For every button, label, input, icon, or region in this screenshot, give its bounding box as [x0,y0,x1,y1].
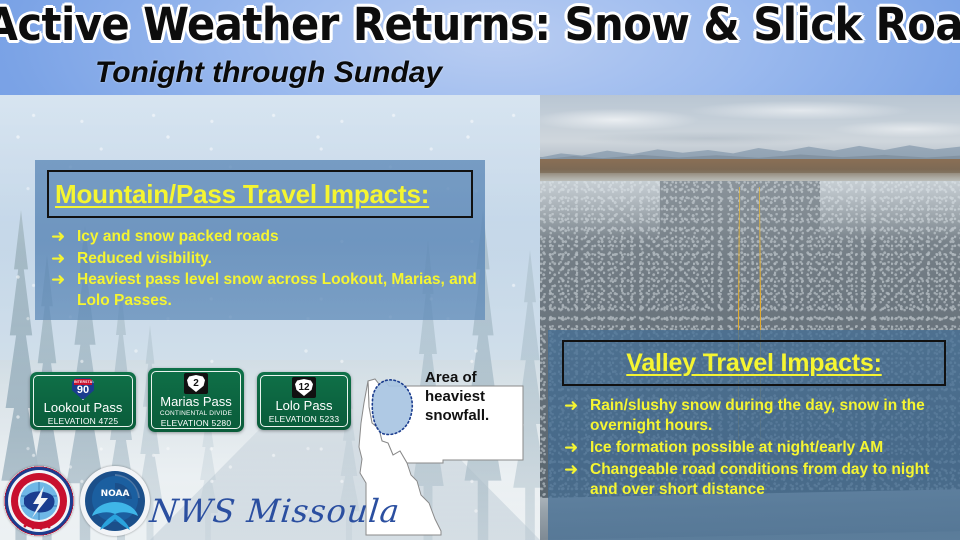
nws-seal-logo [4,466,74,536]
sign-pass-name: Lolo Pass [275,399,332,413]
highway-sign-marias-pass: 2 Marias Pass CONTINENTAL DIVIDE ELEVATI… [148,368,244,432]
arrow-bullet-icon: ➜ [51,227,77,248]
nws-seal-graphic [4,466,74,536]
sign-pass-name: Marias Pass [160,395,232,409]
list-item-text: Reduced visibility. [77,249,485,269]
interstate-90-shield-icon: INTERSTATE 90 [70,377,96,400]
arrow-bullet-icon: ➜ [51,270,77,291]
weather-graphic: Active Weather Returns: Snow & Slick Roa… [0,0,960,540]
arrow-bullet-icon: ➜ [51,249,77,270]
noaa-logo: NOAA [80,466,150,536]
sign-elevation: ELEVATION 4725 [48,416,119,426]
list-item-text: Ice formation possible at night/early AM [590,438,960,458]
mountain-bullet-list: ➜ Icy and snow packed roads ➜ Reduced vi… [51,227,485,311]
list-item: ➜ Reduced visibility. [51,249,485,270]
mountain-impacts-panel: Mountain/Pass Travel Impacts: ➜ Icy and … [35,160,485,320]
page-title: Active Weather Returns: Snow & Slick Roa… [0,0,960,51]
highway-sign-lookout-pass: INTERSTATE 90 Lookout Pass ELEVATION 472… [30,372,136,430]
list-item: ➜ Heaviest pass level snow across Lookou… [51,270,485,311]
valley-heading: Valley Travel Impacts: [626,349,881,378]
route-number: 12 [298,383,309,393]
route-number: 90 [77,385,89,396]
sign-pass-name: Lookout Pass [44,401,123,415]
list-item-text: Icy and snow packed roads [77,227,485,247]
list-item-text: Rain/slushy snow during the day, snow in… [590,396,960,437]
header-banner: Active Weather Returns: Snow & Slick Roa… [0,0,960,95]
arrow-bullet-icon: ➜ [564,438,590,459]
sign-elevation: ELEVATION 5233 [269,414,340,424]
snowfall-annotation: Area of heaviest snowfall. [425,368,530,426]
mountain-heading-box: Mountain/Pass Travel Impacts: [47,170,473,218]
us-route-2-shield-icon: 2 [184,373,208,394]
sign-subtitle: CONTINENTAL DIVIDE [160,410,232,417]
noaa-logo-graphic: NOAA [80,466,150,536]
list-item: ➜ Rain/slushy snow during the day, snow … [564,396,960,437]
mountain-heading: Mountain/Pass Travel Impacts: [55,179,429,210]
route-number: 2 [193,379,199,389]
us-shield-plate: 2 [187,375,205,392]
valley-bullet-list: ➜ Rain/slushy snow during the day, snow … [564,396,960,501]
list-item: ➜ Changeable road conditions from day to… [564,460,960,501]
valley-impacts-panel: Valley Travel Impacts: ➜ Rain/slushy sno… [548,330,960,540]
heaviest-snowfall-area [372,380,412,435]
office-signature: NWS Missoula [148,492,402,530]
us-shield-plate: 12 [295,379,313,396]
page-subtitle: Tonight through Sunday [95,56,442,90]
highway-sign-lolo-pass: 12 Lolo Pass ELEVATION 5233 [257,372,351,430]
valley-heading-box: Valley Travel Impacts: [562,340,946,386]
arrow-bullet-icon: ➜ [564,460,590,481]
list-item: ➜ Ice formation possible at night/early … [564,438,960,459]
list-item-text: Heaviest pass level snow across Lookout,… [77,270,485,311]
us-route-12-shield-icon: 12 [292,377,316,398]
list-item-text: Changeable road conditions from day to n… [590,460,960,501]
sign-elevation: ELEVATION 5280 [161,418,232,428]
list-item: ➜ Icy and snow packed roads [51,227,485,248]
arrow-bullet-icon: ➜ [564,396,590,417]
noaa-wordmark: NOAA [101,489,130,499]
